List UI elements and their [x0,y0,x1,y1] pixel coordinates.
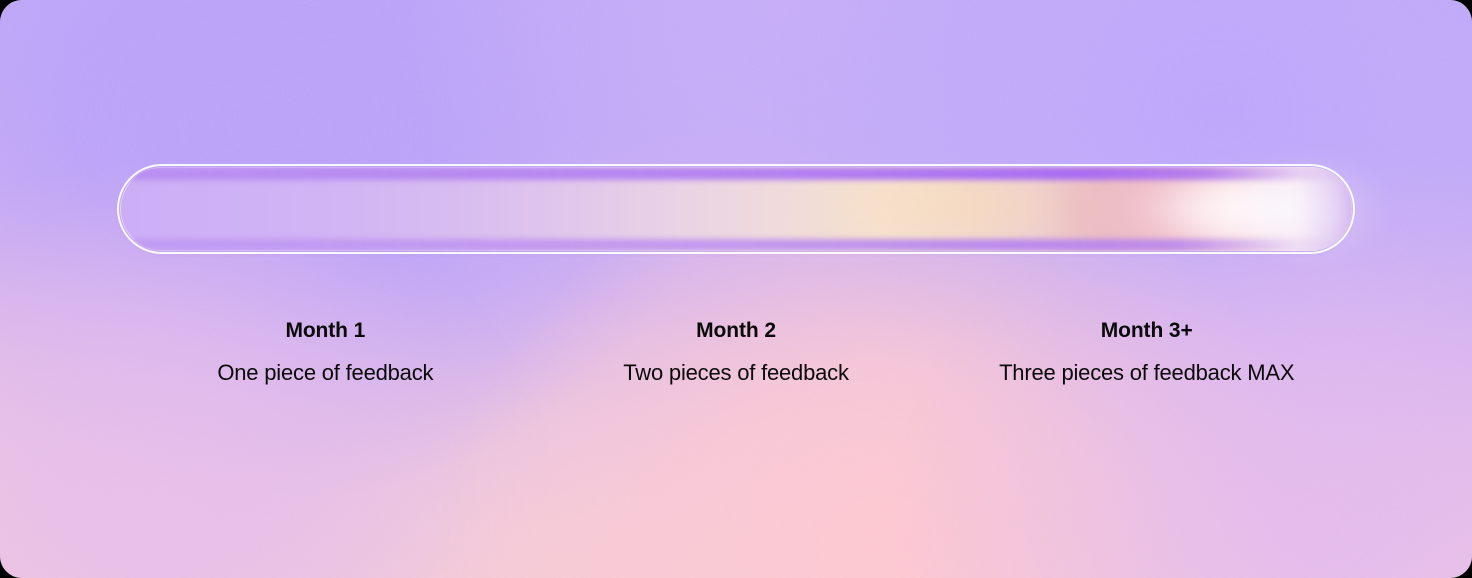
milestone-description: Two pieces of feedback [531,357,942,388]
progress-bar-bottom-rim [120,239,1352,251]
milestone-title: Month 2 [531,316,942,346]
progress-bar-track [120,167,1352,251]
milestone-month-2: Month 2 Two pieces of feedback [531,316,942,388]
milestone-month-3-plus: Month 3+ Three pieces of feedback MAX [941,316,1352,388]
milestone-title: Month 3+ [941,316,1352,346]
progress-bar-top-rim [120,167,1352,180]
milestone-title: Month 1 [120,316,531,346]
milestone-month-1: Month 1 One piece of feedback [120,316,531,388]
progress-bar[interactable] [120,167,1352,251]
feedback-cadence-graphic: Month 1 One piece of feedback Month 2 Tw… [0,0,1472,578]
milestone-list: Month 1 One piece of feedback Month 2 Tw… [120,316,1352,388]
milestone-description: One piece of feedback [120,357,531,388]
milestone-description: Three pieces of feedback MAX [941,357,1352,388]
background-gradient [0,0,1472,578]
